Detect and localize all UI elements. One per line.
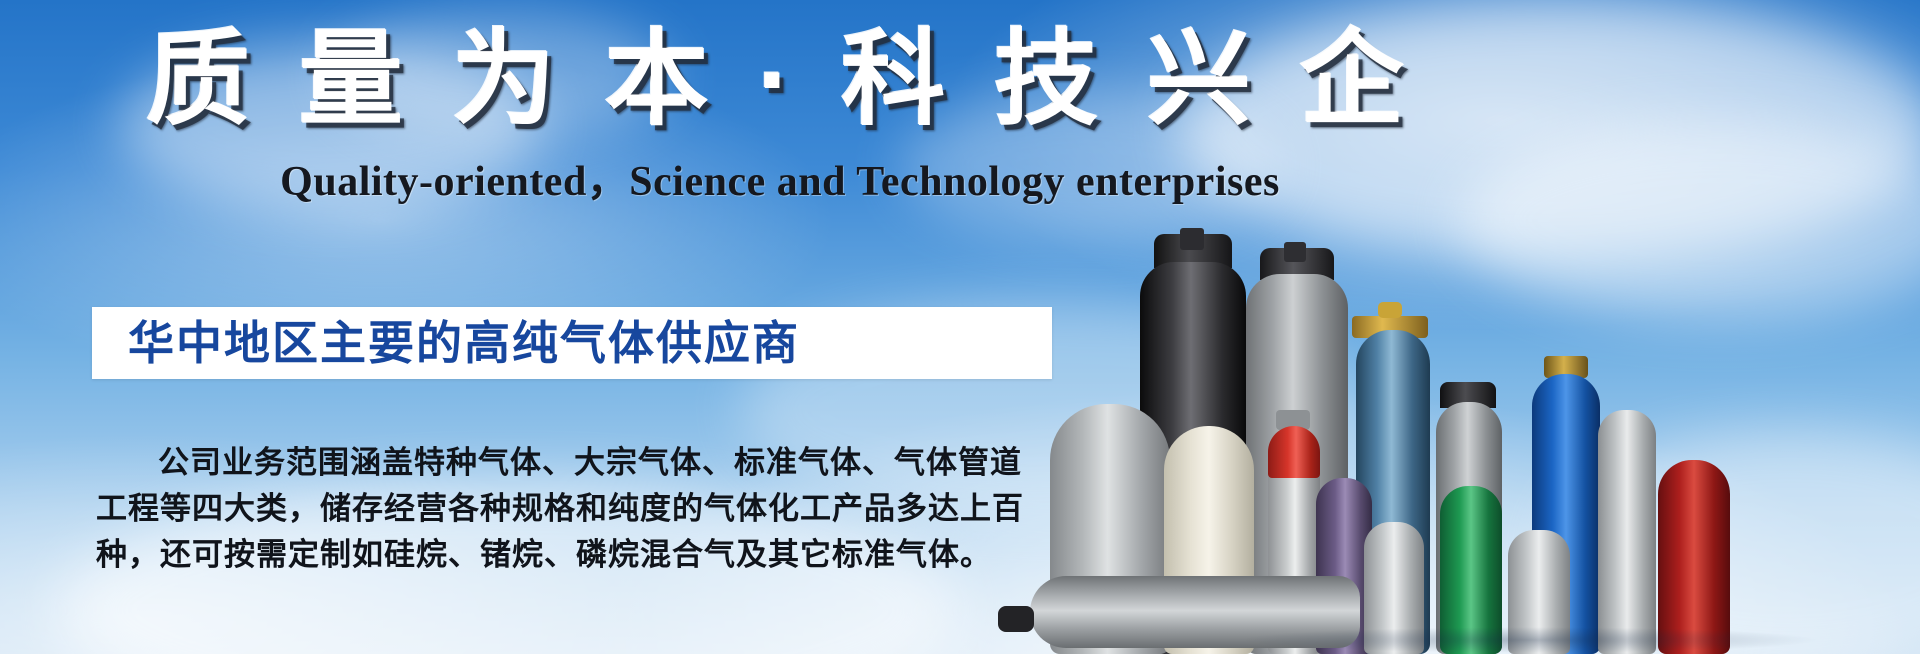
aluminium-cylinder bbox=[1598, 410, 1656, 654]
tagline-box: 华中地区主要的高纯气体供应商 bbox=[92, 307, 1052, 379]
gas-cylinder-group-image bbox=[1140, 180, 1920, 654]
red-top-cylinder-red-shoulder bbox=[1268, 426, 1320, 478]
banner-paragraph: 公司业务范围涵盖特种气体、大宗气体、标准气体、气体管道 工程等四大类，储存经营各… bbox=[96, 440, 1036, 578]
tagline-text: 华中地区主要的高纯气体供应商 bbox=[92, 317, 800, 369]
hero-banner: 质 量 为 本 · 科 技 兴 企 Quality-oriented，Scien… bbox=[0, 0, 1920, 654]
paragraph-line: 种，还可按需定制如硅烷、锗烷、磷烷混合气及其它标准气体。 bbox=[96, 532, 1036, 578]
grey-tall-cylinder-valve bbox=[1284, 242, 1306, 262]
paragraph-line: 工程等四大类，储存经营各种规格和纯度的气体化工产品多达上百 bbox=[96, 486, 1036, 532]
cylinder-ground-shadow bbox=[1140, 620, 1920, 654]
lying-cylinder-valve bbox=[998, 606, 1034, 632]
black-tall-cylinder-valve bbox=[1180, 228, 1204, 250]
paragraph-line: 公司业务范围涵盖特种气体、大宗气体、标准气体、气体管道 bbox=[96, 440, 1036, 486]
banner-headline: 质 量 为 本 · 科 技 兴 企 bbox=[0, 20, 1560, 140]
steel-blue-cylinder-handwheel bbox=[1378, 302, 1402, 318]
